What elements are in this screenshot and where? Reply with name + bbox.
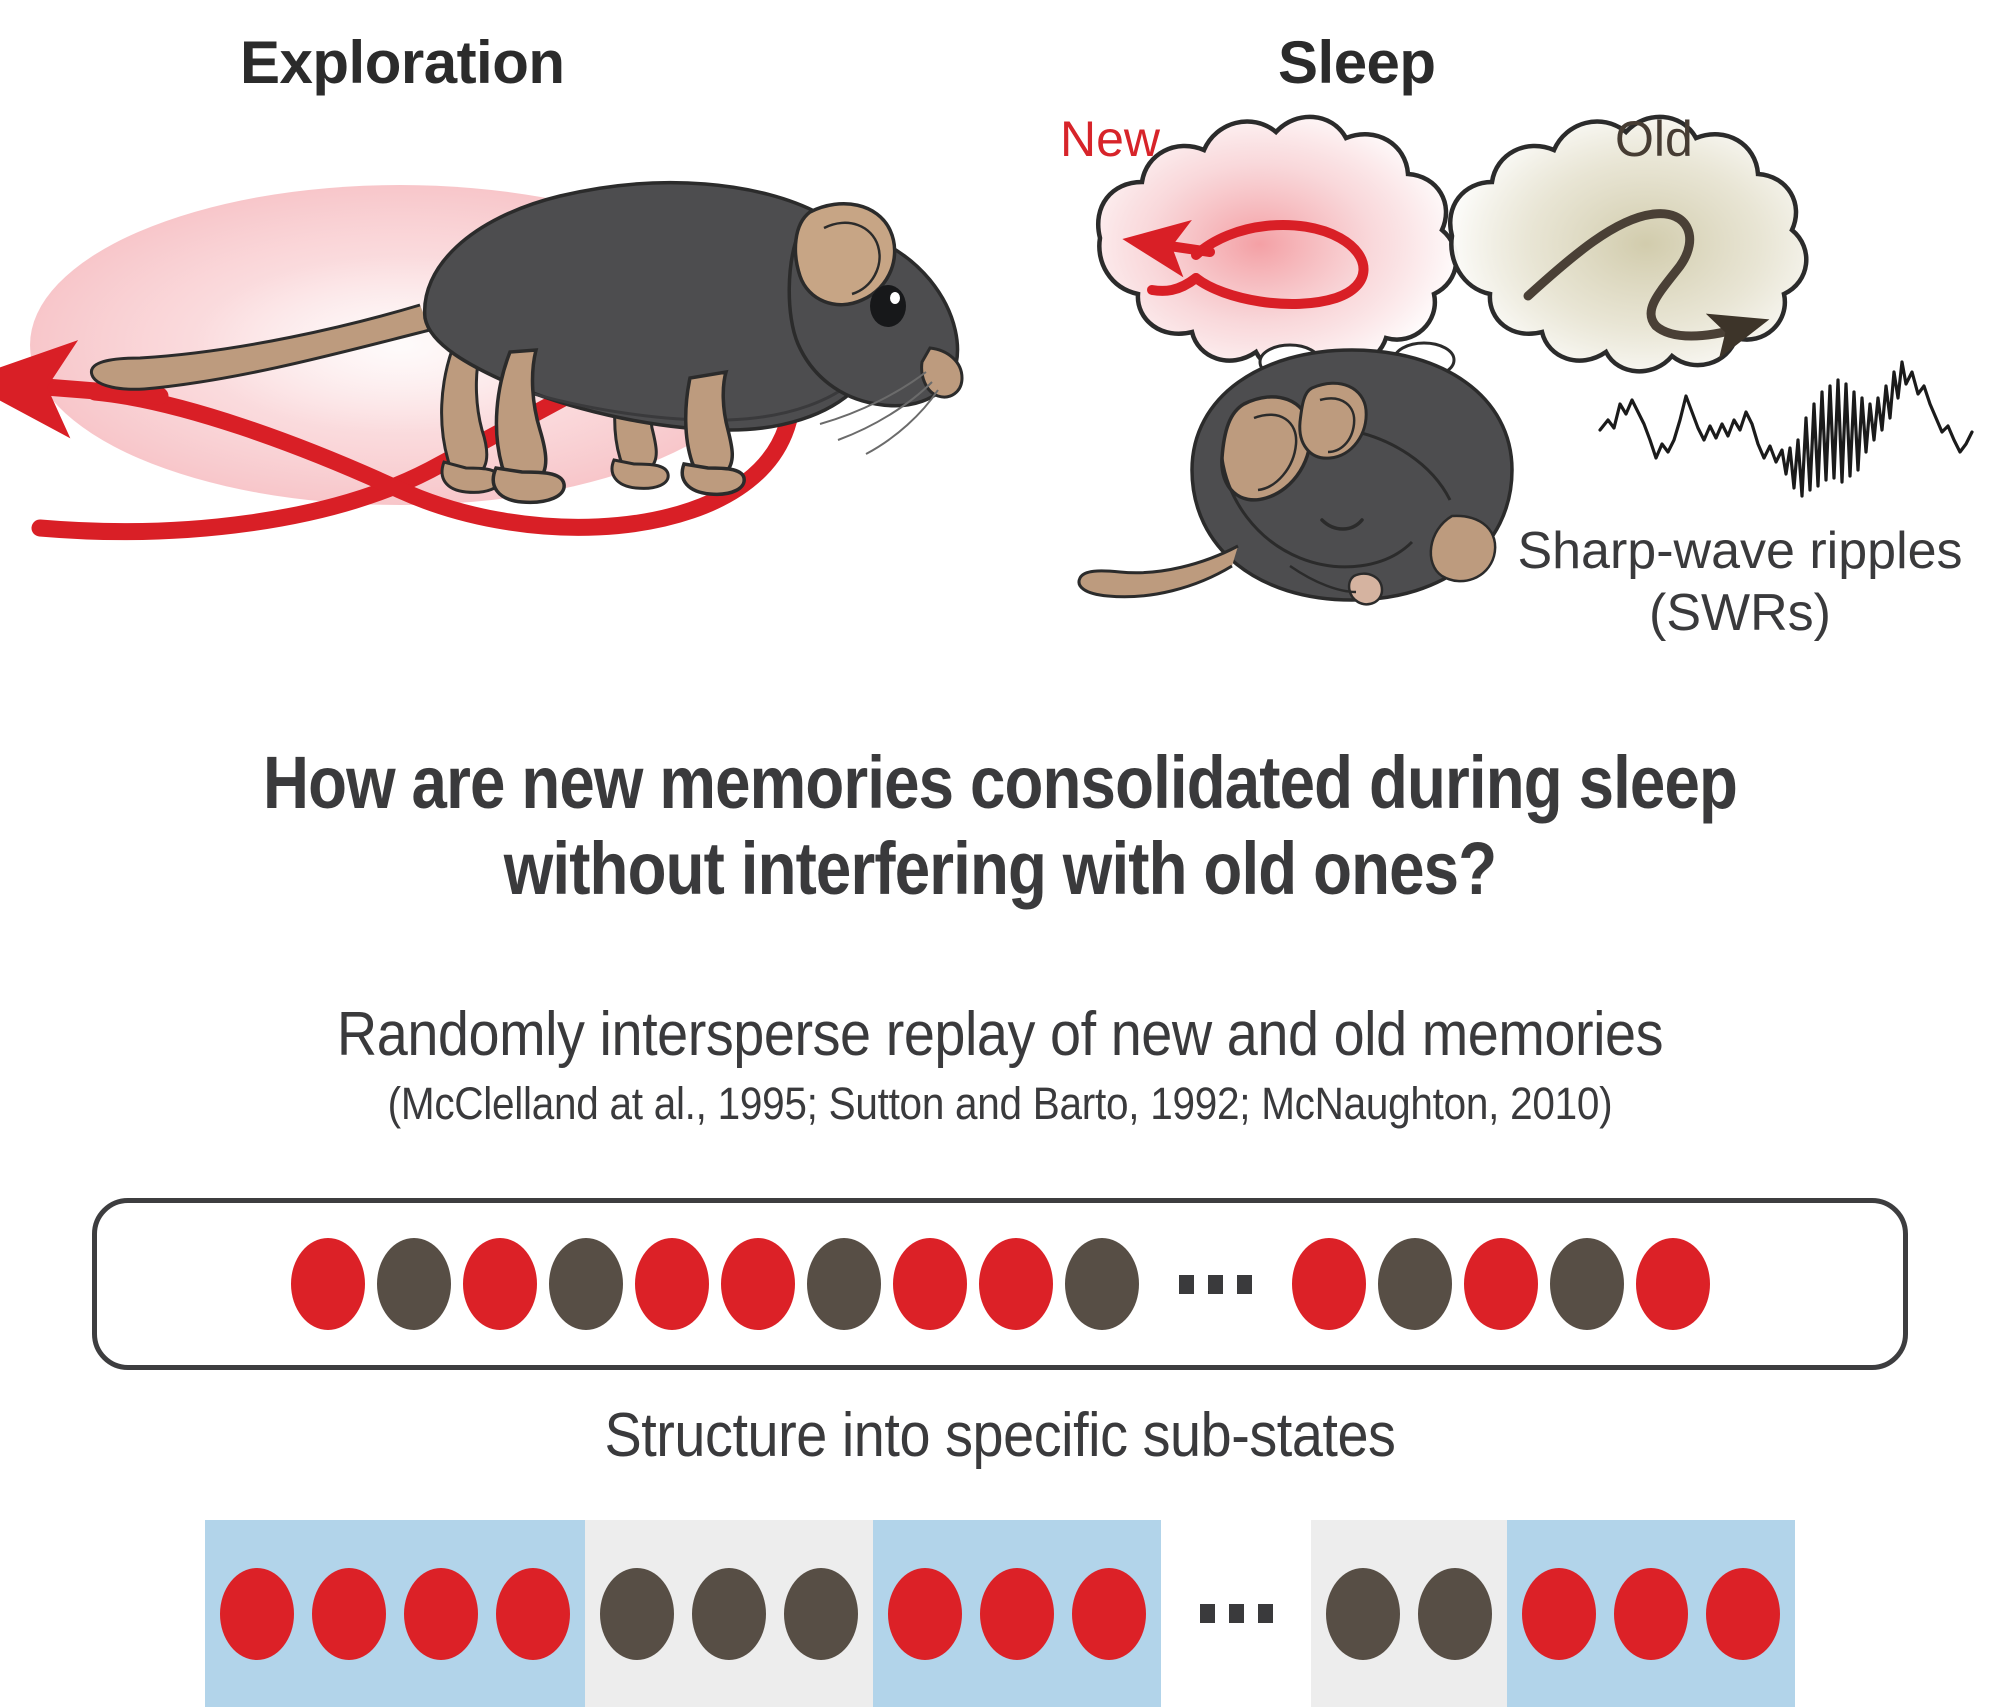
- old-memory-dot: [692, 1568, 766, 1660]
- new-memory-dot: [635, 1238, 709, 1330]
- ellipsis-dot: [1179, 1275, 1194, 1294]
- swr-trace: [1600, 362, 1972, 496]
- old-memory-dot: [784, 1568, 858, 1660]
- new-memory-dot: [721, 1238, 795, 1330]
- swr-caption: Sharp-wave ripples (SWRs): [1480, 520, 2000, 644]
- new-substate-block: [873, 1520, 1161, 1707]
- new-memory-dot: [888, 1568, 962, 1660]
- old-memory-dot: [377, 1238, 451, 1330]
- old-memory-dot: [1418, 1568, 1492, 1660]
- old-memory-dot: [1326, 1568, 1400, 1660]
- old-substate-block: [585, 1520, 873, 1707]
- exploration-panel-title: Exploration: [240, 28, 565, 97]
- new-memory-dot: [463, 1238, 537, 1330]
- new-memory-dot: [1614, 1568, 1688, 1660]
- new-memory-dot: [496, 1568, 570, 1660]
- swr-caption-line-1: Sharp-wave ripples: [1480, 520, 2000, 582]
- proposal-headline: Randomly intersperse replay of new and o…: [100, 1000, 1900, 1070]
- sleep-panel-title: Sleep: [1278, 28, 1436, 97]
- structured-row-ellipsis: [1161, 1520, 1311, 1707]
- structured-substate-row: [92, 1520, 1908, 1707]
- new-memory-dot: [980, 1568, 1054, 1660]
- new-substate-block: [205, 1520, 585, 1707]
- new-memory-dot: [1636, 1238, 1710, 1330]
- random-dot-row: [97, 1203, 1903, 1365]
- ellipsis-dot: [1208, 1275, 1223, 1294]
- old-memory-dot: [1550, 1238, 1624, 1330]
- new-memory-dot: [1706, 1568, 1780, 1660]
- new-memory-dot: [893, 1238, 967, 1330]
- swr-caption-line-2: (SWRs): [1480, 582, 2000, 644]
- new-memory-dot: [1292, 1238, 1366, 1330]
- mouse-eye: [870, 285, 906, 327]
- new-memory-dot: [220, 1568, 294, 1660]
- new-memory-dot: [1464, 1238, 1538, 1330]
- ellipsis-dot: [1258, 1604, 1273, 1623]
- new-memory-dot: [404, 1568, 478, 1660]
- sleeping-mouse-nose: [1349, 574, 1382, 605]
- question-line-1: How are new memories consolidated during…: [140, 740, 1860, 826]
- new-memory-dot: [1522, 1568, 1596, 1660]
- old-memory-dot: [549, 1238, 623, 1330]
- old-memory-dot: [600, 1568, 674, 1660]
- sleeping-mouse-tail: [1079, 546, 1238, 597]
- old-memory-dot: [1378, 1238, 1452, 1330]
- random-row-ellipsis: [1179, 1238, 1252, 1330]
- question-line-2: without interfering with old ones?: [140, 826, 1860, 912]
- new-substate-block: [1507, 1520, 1795, 1707]
- exploration-illustration: [20, 183, 962, 532]
- old-memory-dot: [807, 1238, 881, 1330]
- ellipsis-dot: [1200, 1604, 1215, 1623]
- old-memory-dot: [1065, 1238, 1139, 1330]
- mouse-forefoot-far: [612, 460, 668, 488]
- new-memory-label: New: [1060, 110, 1160, 168]
- new-memory-dot: [1072, 1568, 1146, 1660]
- mouse-forefoot-near: [682, 464, 744, 494]
- random-sequence-box: [92, 1198, 1908, 1370]
- mouse-hindfoot-near: [493, 468, 564, 502]
- proposal-citation: (McClelland at al., 1995; Sutton and Bar…: [100, 1076, 1900, 1132]
- old-substate-block: [1311, 1520, 1507, 1707]
- new-memory-dot: [291, 1238, 365, 1330]
- proposal-section: Randomly intersperse replay of new and o…: [0, 1000, 2000, 1132]
- old-memory-label: Old: [1615, 110, 1693, 168]
- ellipsis-dot: [1237, 1275, 1252, 1294]
- main-question: How are new memories consolidated during…: [0, 740, 2000, 912]
- figure-root: Exploration Sleep New Old Sharp-wave rip…: [0, 0, 2000, 1707]
- structured-heading: Structure into specific sub-states: [100, 1400, 1900, 1471]
- mouse-eye-highlight: [890, 292, 900, 304]
- new-memory-dot: [979, 1238, 1053, 1330]
- ellipsis-dot: [1229, 1604, 1244, 1623]
- new-memory-dot: [312, 1568, 386, 1660]
